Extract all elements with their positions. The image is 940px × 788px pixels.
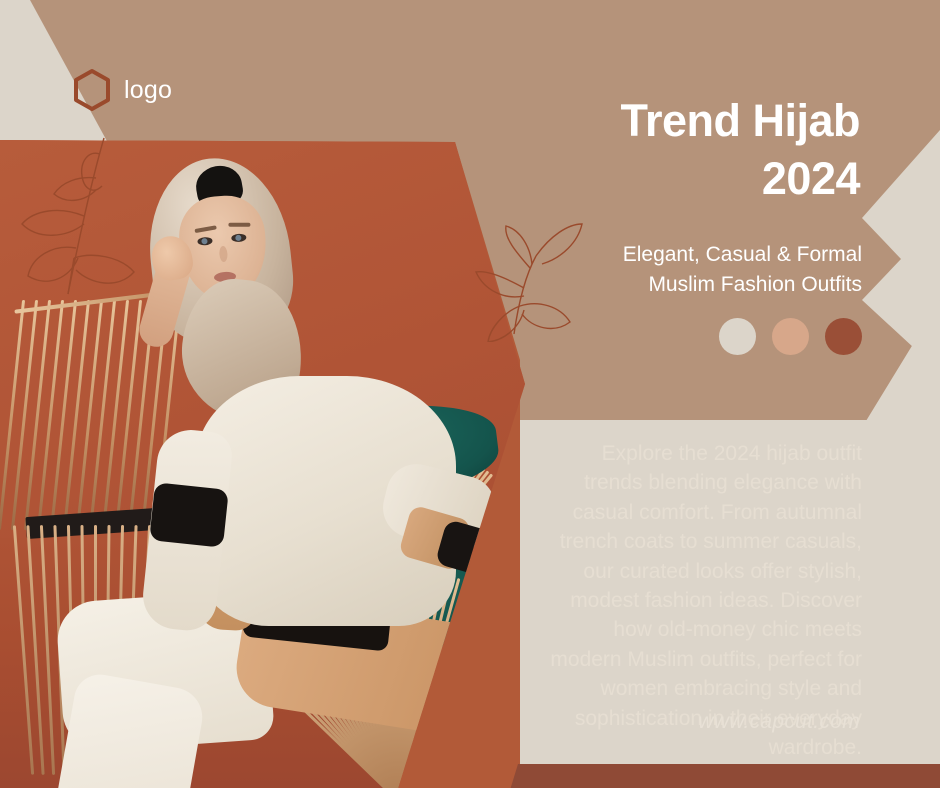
website-url[interactable]: www.capcut.com — [698, 710, 860, 734]
page-title: Trend Hijab 2024 — [400, 92, 860, 207]
chair-wire — [76, 300, 103, 530]
brand-logo[interactable]: logo — [72, 68, 172, 112]
chair-wire — [89, 300, 116, 530]
color-swatch-group — [719, 318, 862, 355]
chair-wire — [63, 300, 90, 530]
subtitle-line-2: Muslim Fashion Outfits — [648, 273, 862, 296]
chair-wire — [24, 300, 51, 530]
title-line-1: Trend Hijab — [620, 95, 860, 146]
chair-wire — [115, 300, 142, 530]
swatch-cream — [719, 318, 756, 355]
subtitle-line-1: Elegant, Casual & Formal — [623, 243, 862, 266]
title-line-2: 2024 — [400, 150, 860, 208]
sleeve-black-cuff-left — [149, 482, 229, 547]
chair-wire — [102, 300, 129, 530]
leaf-branch-icon — [8, 132, 168, 302]
logo-text: logo — [124, 78, 172, 103]
subtitle: Elegant, Casual & Formal Muslim Fashion … — [442, 240, 862, 300]
poster-canvas: logo Trend Hijab 2024 Elegant, Casual & … — [0, 0, 940, 788]
chair-wire — [50, 300, 77, 530]
swatch-peach — [772, 318, 809, 355]
hexagon-outline-icon — [72, 68, 112, 112]
swatch-terracotta — [825, 318, 862, 355]
chair-wire — [37, 300, 64, 530]
